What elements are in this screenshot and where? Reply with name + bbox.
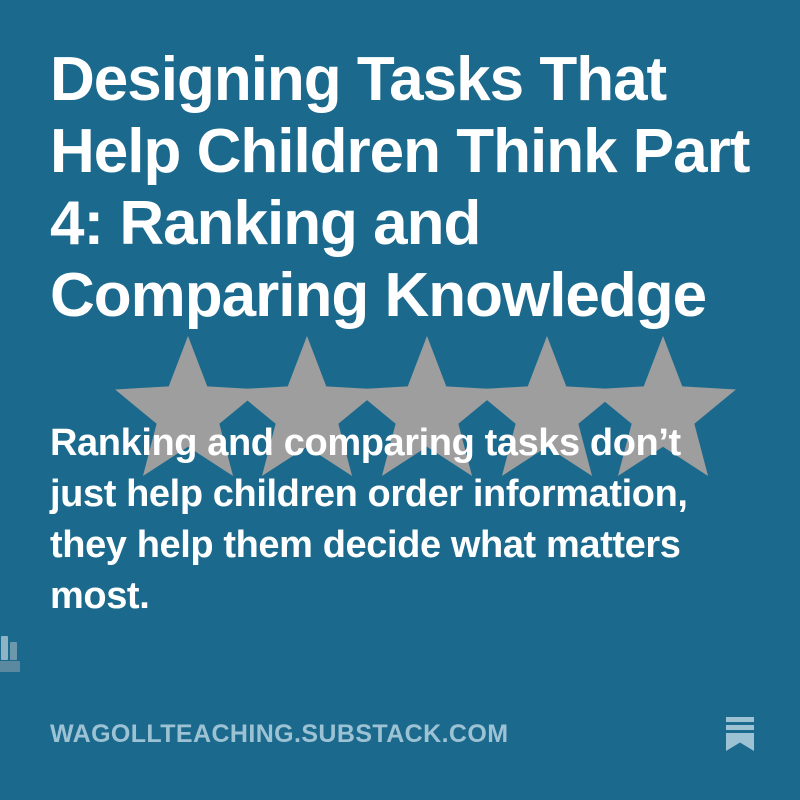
text-content: Designing Tasks That Help Children Think… <box>50 0 760 800</box>
substack-bookmark-logo <box>724 716 756 752</box>
page-subtitle: Ranking and comparing tasks don’t just h… <box>50 418 730 622</box>
social-share-card: Designing Tasks That Help Children Think… <box>0 0 800 800</box>
books-watermark-icon <box>0 628 34 676</box>
publication-url: WAGOLLTEACHING.SUBSTACK.COM <box>50 720 508 749</box>
footer: WAGOLLTEACHING.SUBSTACK.COM <box>50 712 756 756</box>
page-title: Designing Tasks That Help Children Think… <box>50 44 760 332</box>
